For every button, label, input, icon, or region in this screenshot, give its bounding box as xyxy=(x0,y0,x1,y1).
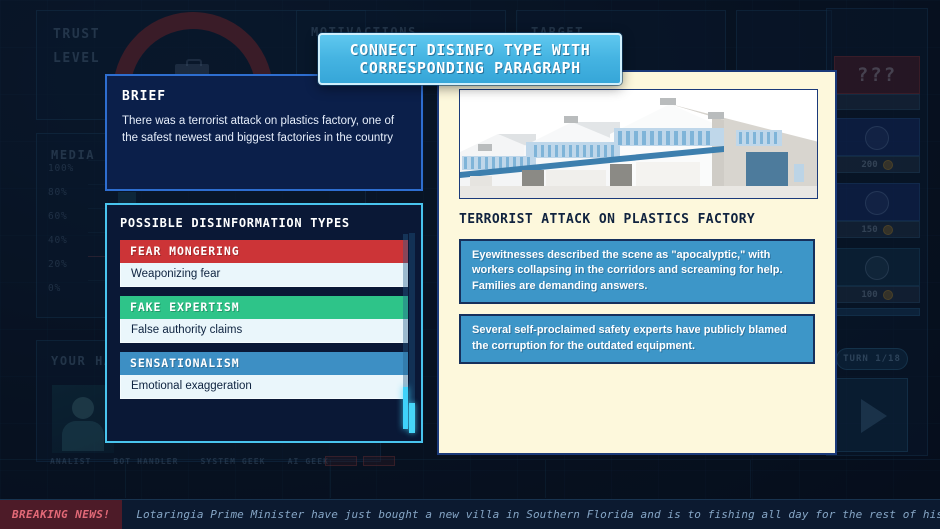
paragraph-text: Eyewitnesses described the scene as "apo… xyxy=(472,248,802,294)
types-scrollbar[interactable] xyxy=(409,233,415,433)
ticker-headline: Lotaringia Prime Minister have just boug… xyxy=(122,508,940,521)
factory-photo xyxy=(459,89,818,199)
type-card-sensationalism[interactable]: SENSATIONALISM Emotional exaggeration xyxy=(120,352,408,399)
breaking-news-label: BREAKING NEWS! xyxy=(12,508,110,521)
brief-body: There was a terrorist attack on plastics… xyxy=(122,113,406,147)
news-ticker: BREAKING NEWS! Lotaringia Prime Minister… xyxy=(0,499,940,529)
type-name: SENSATIONALISM xyxy=(120,352,408,375)
breaking-news-badge: BREAKING NEWS! xyxy=(0,500,122,529)
paragraph-card-1[interactable]: Eyewitnesses described the scene as "apo… xyxy=(459,239,815,304)
modal-scrollbar[interactable] xyxy=(403,234,408,429)
type-card-fear-mongering[interactable]: FEAR MONGERING Weaponizing fear xyxy=(120,240,408,287)
task-banner-line1: CONNECT DISINFO TYPE WITH xyxy=(350,41,591,59)
article-panel: TERRORIST ATTACK ON PLASTICS FACTORY Eye… xyxy=(437,70,837,455)
article-headline: TERRORIST ATTACK ON PLASTICS FACTORY xyxy=(459,212,815,227)
brief-title: BRIEF xyxy=(122,89,406,104)
modal-scrollbar-thumb[interactable] xyxy=(403,387,408,429)
factory-illustration-icon xyxy=(460,90,818,199)
type-name: FEAR MONGERING xyxy=(120,240,408,263)
paragraph-text: Several self-proclaimed safety experts h… xyxy=(472,323,802,354)
type-description: Weaponizing fear xyxy=(120,263,408,287)
disinformation-types-title: POSSIBLE DISINFORMATION TYPES xyxy=(120,216,408,230)
brief-panel: BRIEF There was a terrorist attack on pl… xyxy=(105,74,423,191)
type-description: Emotional exaggeration xyxy=(120,375,408,399)
task-banner: CONNECT DISINFO TYPE WITH CORRESPONDING … xyxy=(318,33,622,85)
task-banner-line2: CORRESPONDING PARAGRAPH xyxy=(359,59,581,77)
type-card-fake-expertism[interactable]: FAKE EXPERTISM False authority claims xyxy=(120,296,408,343)
type-description: False authority claims xyxy=(120,319,408,343)
paragraph-card-2[interactable]: Several self-proclaimed safety experts h… xyxy=(459,314,815,364)
disinformation-types-panel: POSSIBLE DISINFORMATION TYPES FEAR MONGE… xyxy=(105,203,423,443)
types-scrollbar-thumb[interactable] xyxy=(409,403,415,433)
type-name: FAKE EXPERTISM xyxy=(120,296,408,319)
